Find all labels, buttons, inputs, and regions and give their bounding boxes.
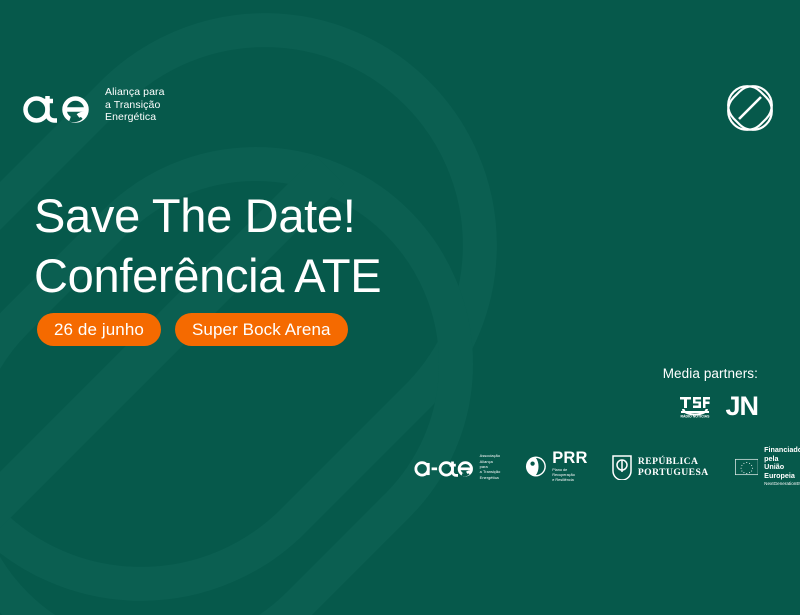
eu-funding-logo: Financiado pela União Europeia NextGener… — [735, 446, 800, 487]
prr-title: PRR — [552, 450, 589, 466]
tsf-logo: RÁDIO NOTÍCIAS — [679, 394, 711, 420]
page-title: Save The Date! Conferência ATE — [34, 186, 381, 306]
ate-logo-tagline: Aliança para a Transição Energética — [105, 86, 165, 124]
eu-funding-line2: União Europeia — [764, 463, 800, 480]
republica-portuguesa-emblem-icon — [611, 454, 633, 480]
prr-emblem-icon — [525, 455, 547, 478]
aate-logo-subtext: Associação Aliança para a Transição Ener… — [480, 453, 502, 480]
prr-subtext: Plano de Recuperação e Resiliência — [552, 468, 589, 483]
jn-logo: JN — [725, 393, 758, 420]
svg-text:RÁDIO NOTÍCIAS: RÁDIO NOTÍCIAS — [681, 413, 711, 418]
ate-logo: Aliança para a Transição Energética — [22, 86, 165, 124]
ate-wordmark-icon — [22, 86, 96, 124]
eu-funding-line3: NextGenerationEU — [764, 480, 800, 487]
pill-date: 26 de junho — [37, 313, 161, 346]
aate-logo: Associação Aliança para a Transição Ener… — [414, 453, 501, 480]
media-partner-logos: RÁDIO NOTÍCIAS JN — [663, 393, 758, 420]
save-the-date-poster: Aliança para a Transição Energética Save… — [0, 0, 800, 615]
funder-logo-strip: Associação Aliança para a Transição Ener… — [414, 446, 800, 487]
republica-portuguesa-text: REPÚBLICA PORTUGUESA — [638, 456, 709, 478]
media-partners-label: Media partners: — [663, 366, 758, 381]
republica-portuguesa-logo: REPÚBLICA PORTUGUESA — [611, 454, 709, 480]
prr-logo: PRR Plano de Recuperação e Resiliência — [525, 450, 588, 483]
pill-venue: Super Bock Arena — [175, 313, 348, 346]
eu-funding-line1: Financiado pela — [764, 446, 800, 463]
aate-wordmark-icon — [414, 456, 473, 478]
media-partners: Media partners: RÁDIO NOTÍCIAS JN — [663, 366, 758, 420]
ate-monogram-icon — [722, 80, 778, 136]
eu-flag-icon — [735, 457, 759, 477]
event-detail-pills: 26 de junho Super Bock Arena — [37, 313, 348, 346]
